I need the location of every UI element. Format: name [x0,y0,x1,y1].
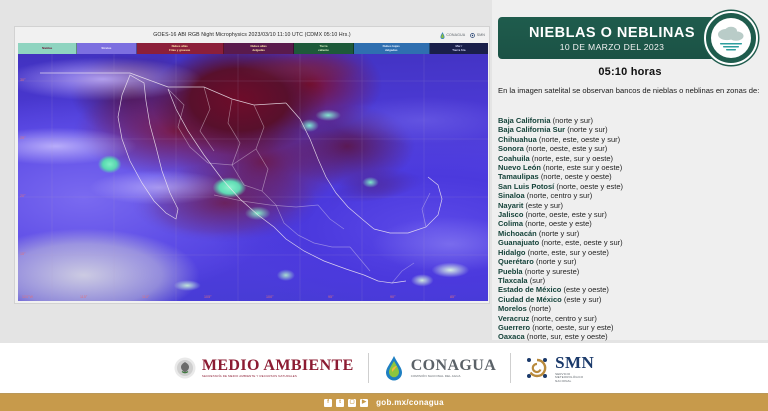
bulletin-header-bar: NIEBLAS O NEBLINAS 10 DE MARZO DEL 2023 [498,17,726,59]
state-zones: (norte, este, oeste y sur) [541,238,622,247]
list-item: Morelos (norte) [498,304,764,313]
satellite-smn-label: SMN [477,33,485,37]
list-item: Guanajuato (norte, este, oeste y sur) [498,238,764,247]
legend-item-0: Nieblas [18,43,77,54]
conagua-logo: CONAGUA COMISIÓN NACIONAL DEL AGUA [383,355,496,381]
state-name: Tamaulipas [498,172,539,181]
footer-divider-1 [368,353,369,383]
state-zones: (norte, este, sur y oeste) [532,154,613,163]
list-item: Colima (norte, oeste y este) [498,219,764,228]
smn-sub: SERVICIO METEOROLÓGICO NACIONAL [555,373,594,383]
state-name: Michoacán [498,229,537,238]
lon-label-5: 95° [328,295,334,299]
state-zones: (norte, oeste, sur y este) [532,323,613,332]
conagua-name: CONAGUA [411,357,496,375]
lon-label-3: 105° [204,295,212,299]
fog-cloud-glyph [711,18,751,58]
list-item: Hidalgo (norte, este, sur y oeste) [498,248,764,257]
state-zones: (norte y sur) [553,116,593,125]
facebook-icon[interactable]: f [324,399,332,407]
list-item: Baja California Sur (norte y sur) [498,125,764,134]
satellite-logo-group: CONAGUA SMN [440,28,485,42]
website-url[interactable]: gob.mx/conagua [376,398,444,407]
list-item: Ciudad de México (este y sur) [498,295,764,304]
satellite-conagua-logo: CONAGUA [440,32,465,39]
state-zones: (norte y sureste) [525,267,580,276]
water-drop-icon [440,32,445,39]
state-zones: (este y sur) [526,201,564,210]
youtube-icon[interactable]: ▶ [360,399,368,407]
legend-item-2: Nubes altas Frías y gruesas [137,43,224,54]
state-name: Tlaxcala [498,276,528,285]
state-name: Sonora [498,144,524,153]
infographic-page: GOES-16 ABI RGB Night Microphysics 2023/… [0,0,768,411]
smn-spiral-icon [525,356,549,380]
state-name: Chihuahua [498,135,537,144]
state-zones: (este y oeste) [563,285,608,294]
conagua-sub: COMISIÓN NACIONAL DEL AGUA [411,375,496,378]
list-item: Chihuahua (norte, este, oeste y sur) [498,135,764,144]
satellite-image-panel: GOES-16 ABI RGB Night Microphysics 2023/… [14,26,490,304]
fog-cloud-icon [704,11,758,65]
medio-ambiente-name: MEDIO AMBIENTE [202,357,354,375]
satellite-map-image: 30° 25° 20° 15° 120°W 115° 110° 105° 100… [18,43,488,301]
smn-name: SMN [555,353,594,373]
lat-label-1: 25° [20,136,26,140]
instagram-icon[interactable]: ▢ [348,399,356,407]
state-zones: (norte, centro y sur) [527,191,592,200]
footer-divider-2 [510,353,511,383]
state-name: Hidalgo [498,248,526,257]
state-name: Morelos [498,304,527,313]
state-zones: (norte, oeste, este y sur) [526,144,607,153]
state-name: Jalisco [498,210,523,219]
state-zones: (norte, sur, este y oeste) [527,332,608,341]
lon-label-0: 120°W [22,295,33,299]
state-zones: (norte y sur) [567,125,607,134]
list-item: Tlaxcala (sur) [498,276,764,285]
state-zones: (norte) [529,304,551,313]
state-name: Estado de México [498,285,561,294]
state-name: Sinaloa [498,191,525,200]
state-name: Baja California Sur [498,125,565,134]
smn-logo: SMN SERVICIO METEOROLÓGICO NACIONAL [525,353,594,383]
satellite-conagua-label: CONAGUA [446,33,465,37]
legend-item-1: Stratus [77,43,136,54]
conagua-water-icon [383,355,405,381]
footer-logo-bar: MEDIO AMBIENTE SECRETARÍA DE MEDIO AMBIE… [0,343,768,393]
lon-label-7: 85° [450,295,456,299]
legend-item-4: Tierra caliente [294,43,353,54]
lat-label-2: 20° [20,194,26,198]
list-item: Guerrero (norte, oeste, sur y este) [498,323,764,332]
state-zones: (norte y sur) [536,257,576,266]
state-name: Ciudad de México [498,295,562,304]
list-item: Nuevo León (norte, este sur y oeste) [498,163,764,172]
state-name: Colima [498,219,523,228]
list-item: Baja California (norte y sur) [498,116,764,125]
lon-label-6: 90° [390,295,396,299]
legend-item-5: Nubes bajas delgadas [354,43,430,54]
list-item: Veracruz (norte, centro y sur) [498,314,764,323]
state-name: Querétaro [498,257,534,266]
state-zones: (norte, oeste, este y sur) [526,210,607,219]
lat-label-3: 15° [20,252,26,256]
spiral-icon [470,32,475,39]
medio-ambiente-logo: MEDIO AMBIENTE SECRETARÍA DE MEDIO AMBIE… [174,357,354,379]
state-name: Nuevo León [498,163,541,172]
twitter-icon[interactable]: t [336,399,344,407]
legend-item-3: Nubes altas delgadas [224,43,295,54]
medio-ambiente-sub: SECRETARÍA DE MEDIO AMBIENTE Y RECURSOS … [202,375,354,378]
list-item: Coahuila (norte, este, sur y oeste) [498,154,764,163]
state-zones: (norte, este sur y oeste) [543,163,622,172]
state-name: Veracruz [498,314,529,323]
bulletin-panel: NIEBLAS O NEBLINAS 10 DE MARZO DEL 2023 … [492,0,768,340]
state-name: Guanajuato [498,238,539,247]
list-item: Nayarit (este y sur) [498,201,764,210]
map-coastline-overlay [18,43,488,301]
state-name: San Luis Potosí [498,182,554,191]
satellite-smn-logo: SMN [470,32,485,39]
list-item: Sinaloa (norte, centro y sur) [498,191,764,200]
lon-label-4: 100° [266,295,274,299]
satellite-image-title: GOES-16 ABI RGB Night Microphysics 2023/… [15,27,489,43]
state-name: Baja California [498,116,551,125]
mexico-eagle-icon [174,357,196,379]
list-item: Sonora (norte, oeste, este y sur) [498,144,764,153]
list-item: Jalisco (norte, oeste, este y sur) [498,210,764,219]
state-name: Oaxaca [498,332,525,341]
state-zones: (norte, este, sur y oeste) [528,248,609,257]
bulletin-date: 10 DE MARZO DEL 2023 [560,42,665,52]
list-item: Estado de México (este y oeste) [498,285,764,294]
list-item: Michoacán (norte y sur) [498,229,764,238]
state-name: Nayarit [498,201,523,210]
state-zones: (sur) [530,276,545,285]
state-zones: (norte, oeste y oeste) [541,172,612,181]
list-item: Querétaro (norte y sur) [498,257,764,266]
lon-label-1: 115° [80,295,87,299]
state-zones: (norte, oeste y este) [556,182,623,191]
list-item: San Luis Potosí (norte, oeste y este) [498,182,764,191]
bulletin-hour: 05:10 horas [492,66,768,78]
bulletin-intro-text: En la imagen satelital se observan banco… [498,86,760,96]
state-zones: (norte, oeste y este) [525,219,592,228]
state-zones: (este y sur) [564,295,602,304]
lon-label-2: 110° [142,295,149,299]
state-name: Puebla [498,267,523,276]
lat-label-0: 30° [20,78,26,82]
list-item: Tamaulipas (norte, oeste y oeste) [498,172,764,181]
social-bottom-bar: f t ▢ ▶ gob.mx/conagua [0,394,768,411]
list-item: Oaxaca (norte, sur, este y oeste) [498,332,764,341]
state-name: Coahuila [498,154,530,163]
state-name: Guerrero [498,323,530,332]
map-legend-bar: Nieblas Stratus Nubes altas Frías y grue… [18,43,488,54]
legend-item-6: Mar / Tierra fría [430,43,488,54]
state-zones: (norte, este, oeste y sur) [539,135,620,144]
page-title: NIEBLAS O NEBLINAS [529,25,695,41]
state-zones: (norte, centro y sur) [531,314,596,323]
list-item: Puebla (norte y sureste) [498,267,764,276]
state-zones: (norte y sur) [539,229,579,238]
